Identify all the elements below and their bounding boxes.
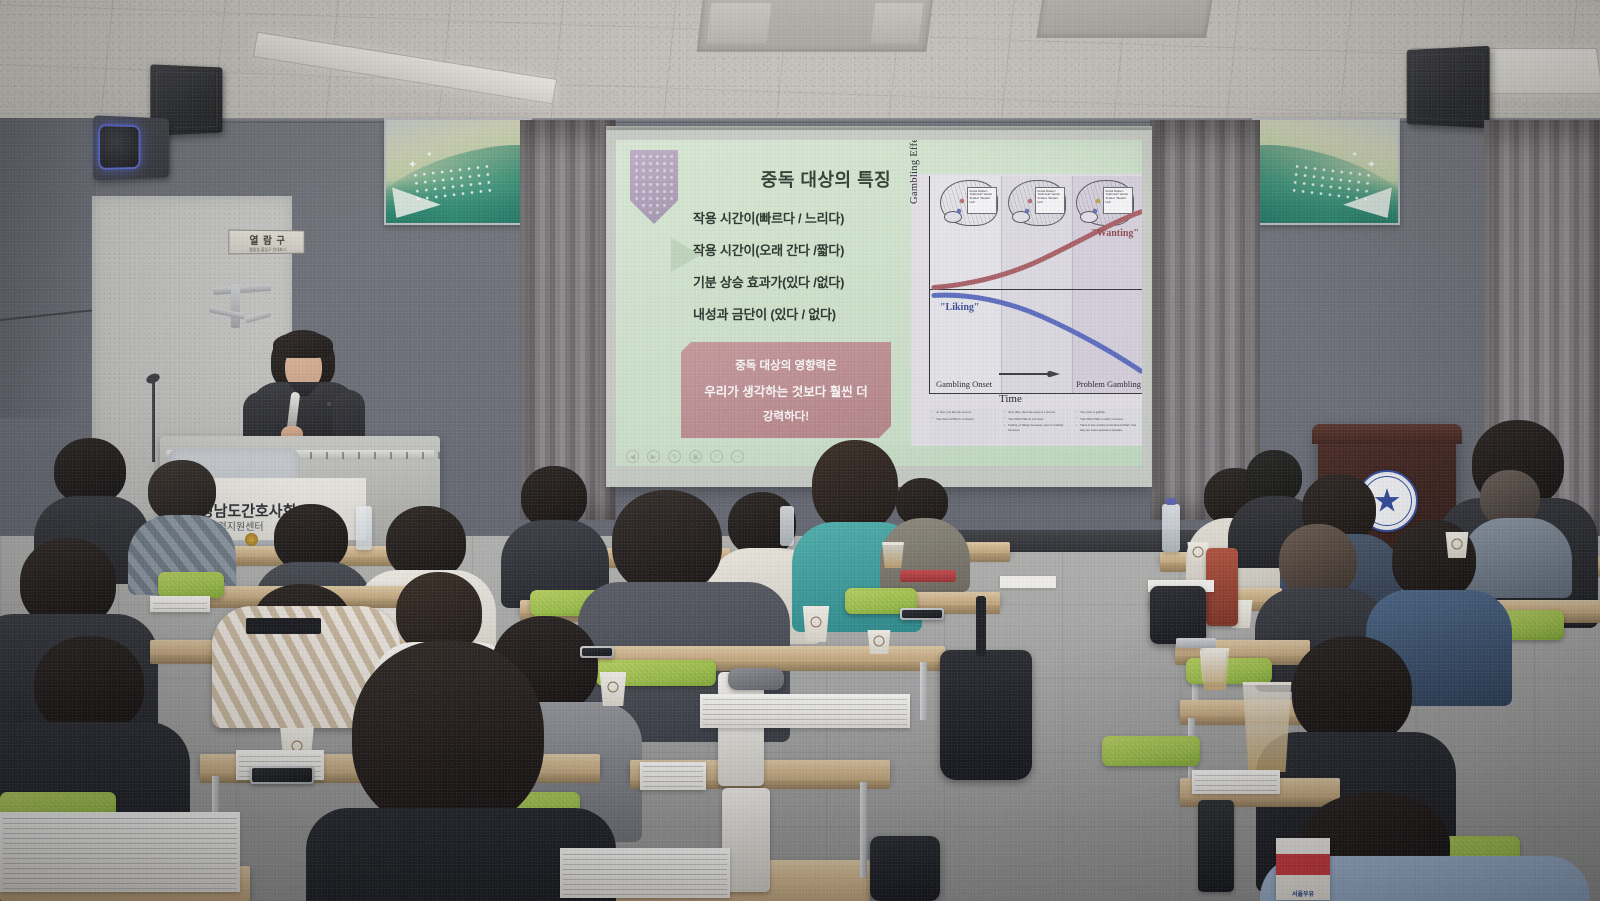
chart-annotation-liking: "Liking" xyxy=(940,302,979,313)
next-icon[interactable]: ▶ xyxy=(647,450,660,463)
water-bottle xyxy=(356,506,372,550)
venue-logo-icon xyxy=(245,533,258,546)
chart-y-axis-label: Gambling Effects on the Brain xyxy=(909,140,920,204)
shoulder-bag xyxy=(940,650,1032,780)
sparkle-icon: ✦ xyxy=(408,158,417,171)
more-icon[interactable]: ⋯ xyxy=(731,450,744,463)
chart-annotation-wanting: "Wanting" xyxy=(1091,228,1139,239)
wall-sign-line2: 열람실 출입구 안내표시 xyxy=(249,246,286,252)
callout-line: 우리가 생각하는 것보다 훨씬 더 xyxy=(704,381,867,400)
shoulder-bag xyxy=(1150,586,1206,644)
wall-sign-line1: 열 람 구 xyxy=(249,231,285,246)
paper-sheet xyxy=(1000,576,1056,588)
chair xyxy=(1186,658,1272,684)
open-booklet xyxy=(1192,770,1280,794)
wall-seam xyxy=(0,309,96,321)
wall-mounted-device xyxy=(93,115,169,180)
sparkle-icon: ✦ xyxy=(1351,150,1358,159)
chart-note-column: At first, you like the reward. Your Rewa… xyxy=(929,408,999,446)
camera-lens-icon xyxy=(100,126,138,168)
coffee-cup xyxy=(801,606,831,642)
zoom-icon[interactable]: ⌕ xyxy=(710,450,723,463)
ceiling xyxy=(0,0,1600,132)
chart-plot-area: Dorsal Striatum "Habit Hub" Ventral Stri… xyxy=(929,176,1142,394)
water-bottle xyxy=(780,506,794,546)
chart-note-column: Over time, the brain expects a reward. Y… xyxy=(1001,408,1071,446)
chart-note: Over time, the brain expects a reward. xyxy=(1004,410,1068,415)
open-booklet xyxy=(560,848,730,898)
wall-speaker-right xyxy=(1407,46,1490,128)
pointer-icon[interactable]: ▣ xyxy=(689,450,702,463)
chart-note: You want to gamble. xyxy=(1076,410,1140,415)
eyeglasses xyxy=(1176,638,1216,648)
backpack-brand-tag xyxy=(246,618,321,634)
smartphone xyxy=(900,608,944,620)
pen-icon[interactable]: ✎ xyxy=(668,450,681,463)
chart-note: At first, you like the reward. xyxy=(932,410,996,415)
slide-decor-corner xyxy=(630,150,678,224)
bottle-cap xyxy=(1166,498,1176,505)
chart-note: Your Habit Hub is easily activated. xyxy=(1076,417,1140,422)
smartphone xyxy=(580,646,614,658)
open-booklet xyxy=(640,762,706,790)
ceiling-ac-vent-2 xyxy=(1036,0,1214,38)
presentation-slide: 중독 대상의 특징 작용 시간이(빠르다 / 느리다) 작용 시간이(오래 간다… xyxy=(616,140,1142,466)
wall-left-panel xyxy=(0,118,96,418)
chart-note: Your Habit Hub in activated. xyxy=(1004,417,1068,422)
sparkle-icon: ✦ xyxy=(426,150,433,159)
milk-carton: 서울우유 xyxy=(1276,838,1330,900)
callout-line: 중독 대상의 영향력은 xyxy=(735,357,837,373)
coffee-cup xyxy=(866,630,892,654)
chart-xtick-onset: Gambling Onset xyxy=(936,379,992,389)
red-pouch xyxy=(900,570,956,582)
open-booklet xyxy=(700,694,910,728)
bag-strap xyxy=(976,596,986,656)
tumbler-lid xyxy=(728,668,784,690)
chart-note-column: You want to gamble. Your Habit Hub is ea… xyxy=(1073,408,1142,446)
chart-xtick-problem: Problem Gambling xyxy=(1076,379,1141,389)
desk-leg xyxy=(920,662,927,720)
open-booklet xyxy=(0,812,240,892)
smartphone xyxy=(250,766,314,784)
thermos-tumbler xyxy=(1198,800,1234,892)
sparkle-icon: ✦ xyxy=(1367,158,1376,171)
chair xyxy=(158,572,224,598)
coffee-cup xyxy=(598,672,628,706)
chart-notes-row: At first, you like the reward. Your Rewa… xyxy=(929,408,1142,446)
microphone-stand xyxy=(152,380,155,462)
chart-series-lines xyxy=(930,176,1142,393)
lecture-hall-photo: 열 람 구 열람실 출입구 안내표시 ✦ ✦ ✦ ✦ 중독 대상의 특징 xyxy=(0,0,1600,901)
powerpoint-presenter-toolbar[interactable]: ◀ ▶ ✎ ▣ ⌕ ⋯ xyxy=(626,450,744,463)
curtain-left xyxy=(520,120,616,520)
chair xyxy=(1102,736,1200,766)
wall-sign: 열 람 구 열람실 출입구 안내표시 xyxy=(228,229,304,254)
milk-carton-label: 서울우유 xyxy=(1276,889,1330,898)
time-arrow-icon xyxy=(999,370,1061,378)
decor-banner-left: ✦ ✦ xyxy=(384,118,532,225)
slide-canvas: 중독 대상의 특징 작용 시간이(빠르다 / 느리다) 작용 시간이(오래 간다… xyxy=(623,146,1135,444)
open-booklet xyxy=(150,596,210,612)
prev-icon[interactable]: ◀ xyxy=(626,450,639,463)
decor-banner-right: ✦ ✦ xyxy=(1252,118,1400,225)
ceiling-ac-vent xyxy=(696,0,933,52)
chart-note: There is less activity in the Reward Hub… xyxy=(1076,423,1140,432)
desk-leg xyxy=(860,782,867,878)
shoulder-bag xyxy=(870,836,940,901)
slide-callout-box: 중독 대상의 영향력은 우리가 생각하는 것보다 훨씬 더 강력하다! xyxy=(681,342,891,438)
chart-note: Feeling of 'liking' decreases, and of 'w… xyxy=(1004,423,1068,432)
callout-line: 강력하다! xyxy=(763,408,809,424)
chart-note: Your Reward Hub is activated. xyxy=(932,417,996,422)
chart-x-axis-label: Time xyxy=(999,393,1022,405)
curtain-right xyxy=(1150,120,1260,520)
coffee-cup xyxy=(1444,532,1470,558)
gambling-effects-chart: Gambling Effects on the Brain Dorsal Str… xyxy=(911,174,1142,446)
water-bottle xyxy=(1162,504,1180,552)
